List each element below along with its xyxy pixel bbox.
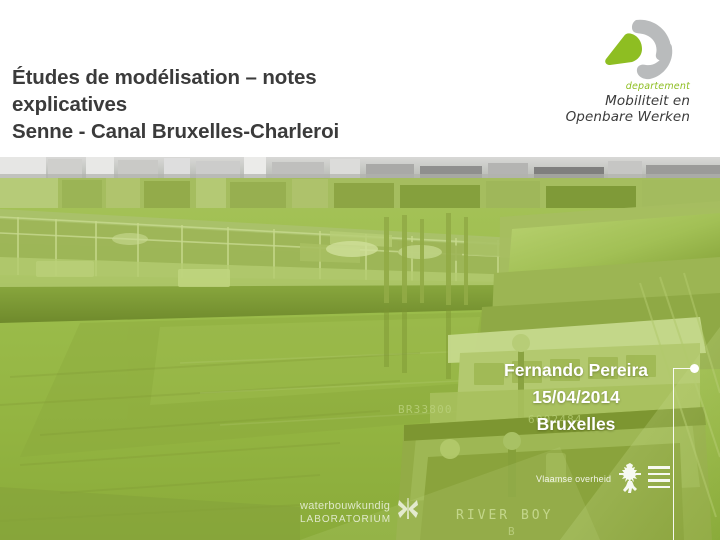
mow-logo-text: departement Mobiliteit en Openbare Werke…: [560, 80, 690, 125]
decorative-dot: [690, 364, 699, 373]
vlaamse-overheid-logo: Vlaamse overheid: [536, 462, 670, 496]
slide-header: Études de modélisation – notes explicati…: [0, 0, 720, 157]
presenter-info: Fernando Pereira 15/04/2014 Bruxelles: [504, 357, 648, 438]
watermark-text: waterbouwkundig LABORATORIUM: [300, 500, 395, 526]
mow-department-logo: departement Mobiliteit en Openbare Werke…: [560, 18, 690, 133]
presentation-location: Bruxelles: [504, 411, 648, 438]
watermark-line2: LABORATORIUM: [300, 513, 395, 526]
svg-text:BR33800: BR33800: [398, 403, 453, 416]
presentation-slide: BR33800 6002484 RIVER BOY B Fernando Per…: [0, 0, 720, 540]
title-line-2: explicatives: [12, 91, 482, 118]
watermark-line1: waterbouwkundig: [300, 500, 395, 513]
presentation-date: 15/04/2014: [504, 384, 648, 411]
title-line-3: Senne - Canal Bruxelles-Charleroi: [12, 118, 482, 145]
wl-butterfly-icon: [396, 496, 420, 522]
mow-departement-label: departement: [560, 80, 690, 93]
photo-grayscale-strip: [0, 157, 720, 178]
title-line-1: Études de modélisation – notes: [12, 64, 482, 91]
decorative-vertical-line: [673, 368, 674, 540]
slide-title: Études de modélisation – notes explicati…: [12, 64, 482, 145]
presenter-name: Fernando Pereira: [504, 357, 648, 384]
vlaamse-overheid-label: Vlaamse overheid: [536, 474, 611, 484]
flemish-flag-bars: [648, 466, 670, 492]
mow-swirl-icon: [602, 18, 674, 80]
mow-logo-line2: Openbare Werken: [560, 109, 690, 125]
flemish-lion-icon: [617, 462, 643, 496]
mow-logo-line1: Mobiliteit en: [560, 93, 690, 109]
waterbouwkundig-laboratorium-watermark: waterbouwkundig LABORATORIUM: [300, 500, 420, 526]
